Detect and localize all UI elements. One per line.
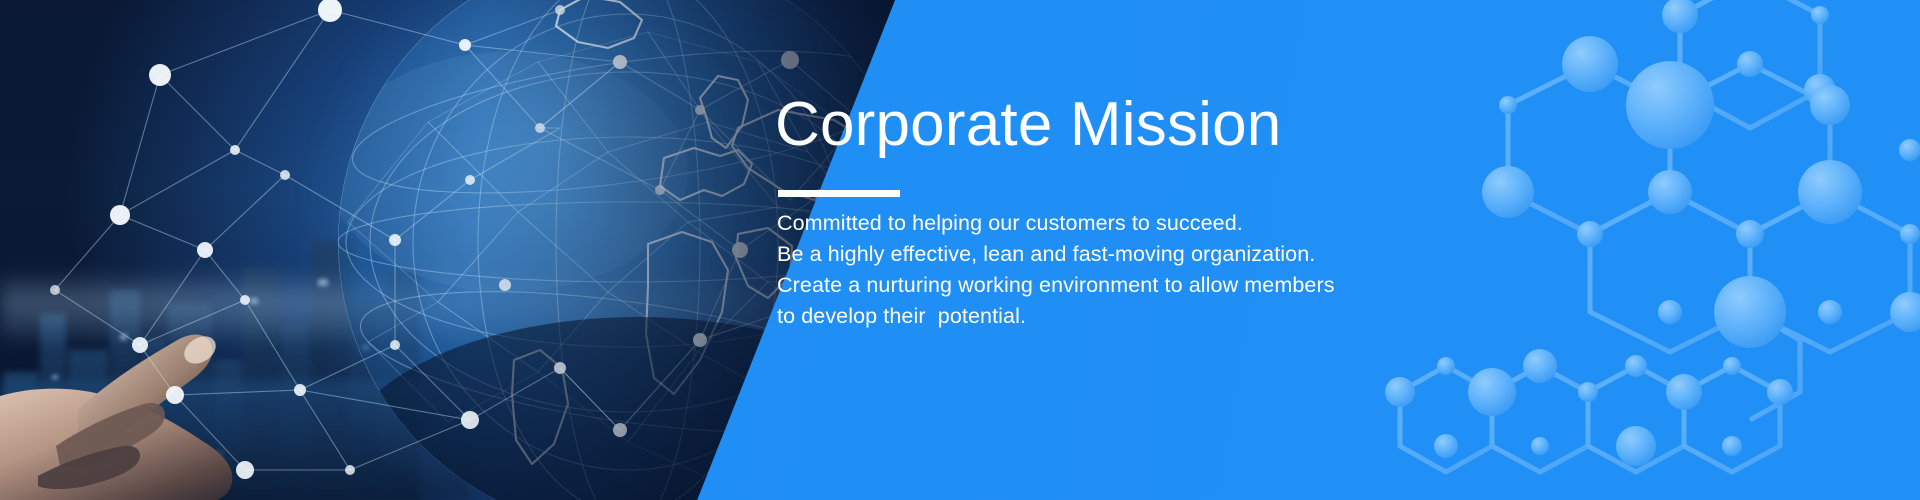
corporate-mission-banner: Corporate Mission Committed to helping o… xyxy=(0,0,1920,500)
title-underline-rule xyxy=(778,190,900,197)
page-title: Corporate Mission xyxy=(775,92,1281,157)
mission-text-block: Corporate Mission Committed to helping o… xyxy=(775,0,1475,500)
mission-line: Be a highly effective, lean and fast-mov… xyxy=(777,239,1437,270)
mission-statement-list: Committed to helping our customers to su… xyxy=(777,208,1437,332)
mission-line: to develop their potential. xyxy=(777,301,1437,332)
mission-line: Create a nurturing working environment t… xyxy=(777,270,1437,301)
mission-line: Committed to helping our customers to su… xyxy=(777,208,1437,239)
